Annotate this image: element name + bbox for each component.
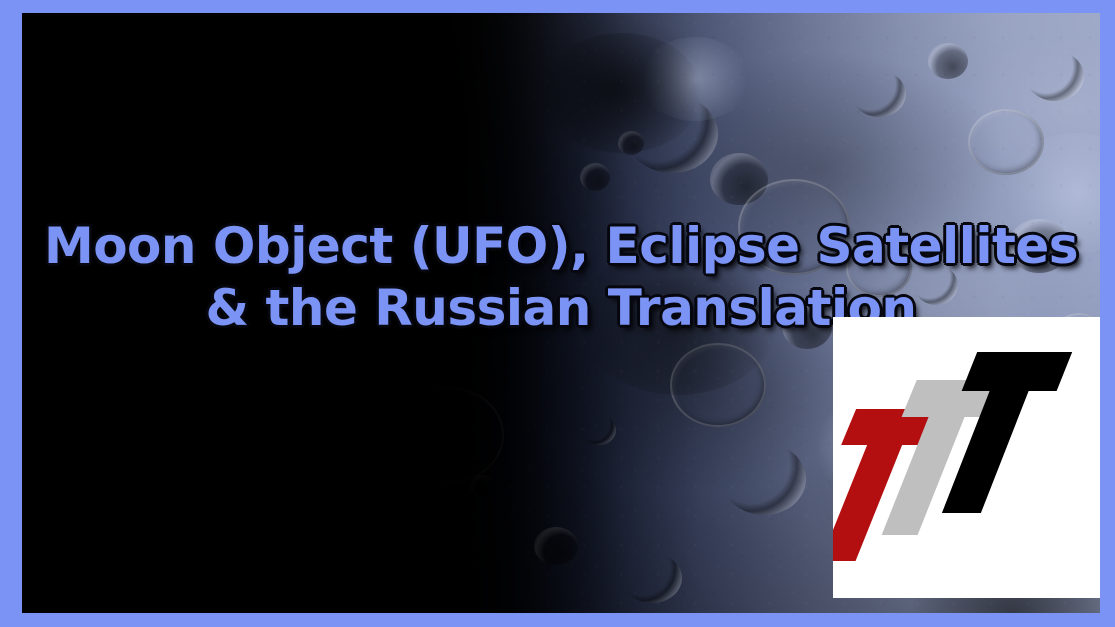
title-line-1: Moon Object (UFO), Eclipse Satellites (22, 215, 1100, 277)
channel-logo (833, 317, 1100, 598)
triple-t-logo-svg (833, 317, 1100, 598)
thumbnail-media-area: Moon Object (UFO), Eclipse Satellites & … (22, 13, 1100, 613)
video-thumbnail: Moon Object (UFO), Eclipse Satellites & … (0, 0, 1115, 627)
